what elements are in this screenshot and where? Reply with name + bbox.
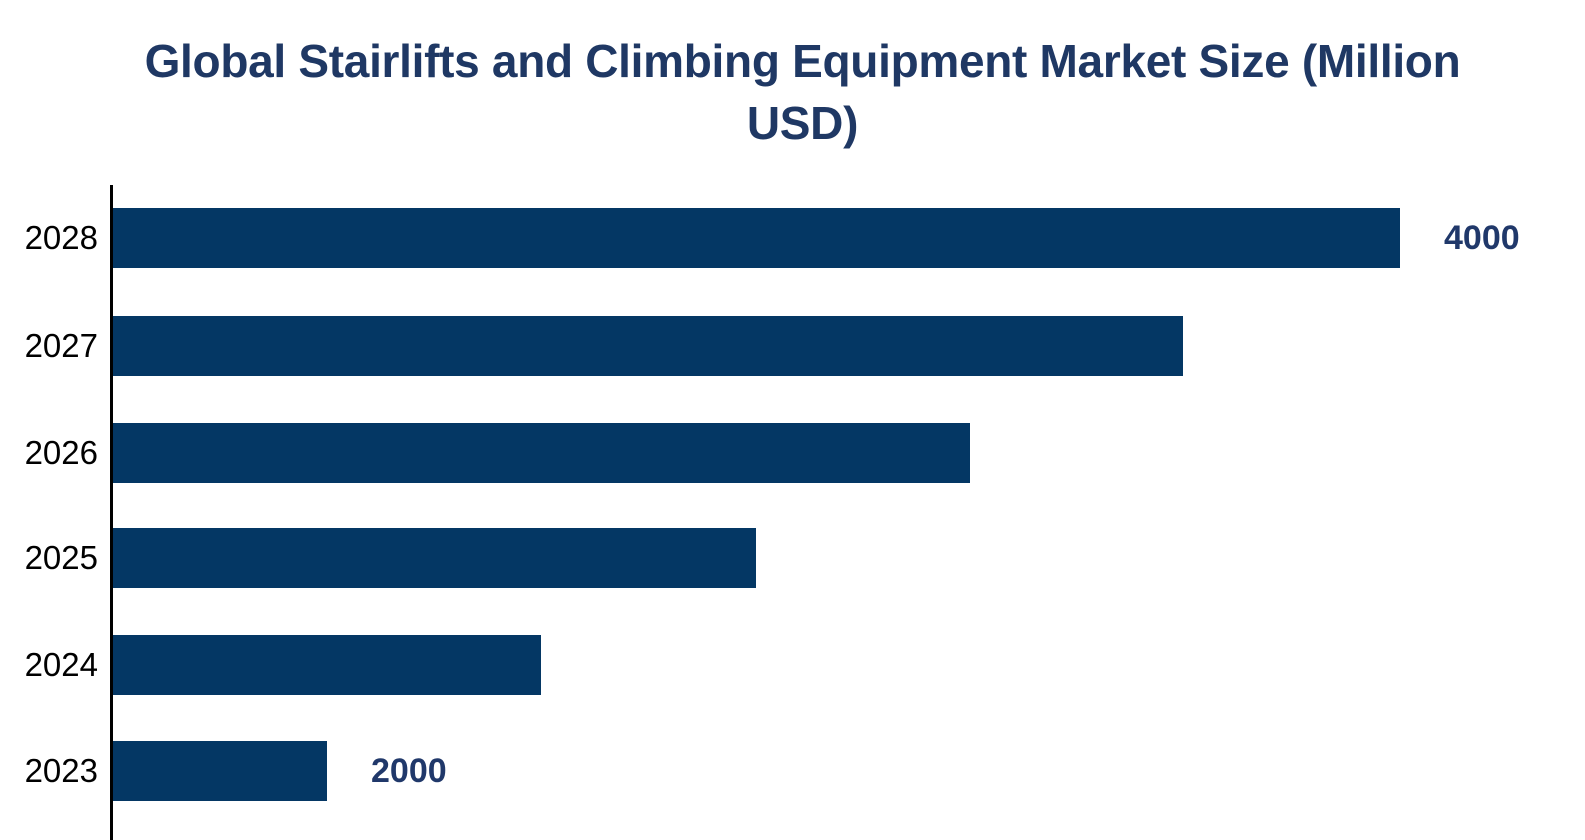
bar-value-label-2028: 4000 [1444,208,1520,268]
category-label-2027: 2027 [0,316,98,376]
bar-2027[interactable] [113,316,1183,376]
bar-2028[interactable] [113,208,1400,268]
plot-area: 2028400020273300202628002025260020242400… [0,0,1585,840]
bar-row: 20242400 [0,635,1585,695]
bar-row: 20252600 [0,528,1585,588]
category-label-2028: 2028 [0,208,98,268]
bar-row: 20284000 [0,208,1585,268]
bar-value-label-2023: 2000 [371,741,447,801]
category-label-2025: 2025 [0,528,98,588]
category-label-2024: 2024 [0,635,98,695]
bar-2025[interactable] [113,528,756,588]
chart-root: Global Stairlifts and Climbing Equipment… [0,0,1585,840]
bar-row: 20273300 [0,316,1585,376]
bar-2026[interactable] [113,423,970,483]
bar-row: 20262800 [0,423,1585,483]
category-label-2023: 2023 [0,741,98,801]
bar-2024[interactable] [113,635,541,695]
category-label-2026: 2026 [0,423,98,483]
bar-row: 20232000 [0,741,1585,801]
bar-2023[interactable] [113,741,327,801]
